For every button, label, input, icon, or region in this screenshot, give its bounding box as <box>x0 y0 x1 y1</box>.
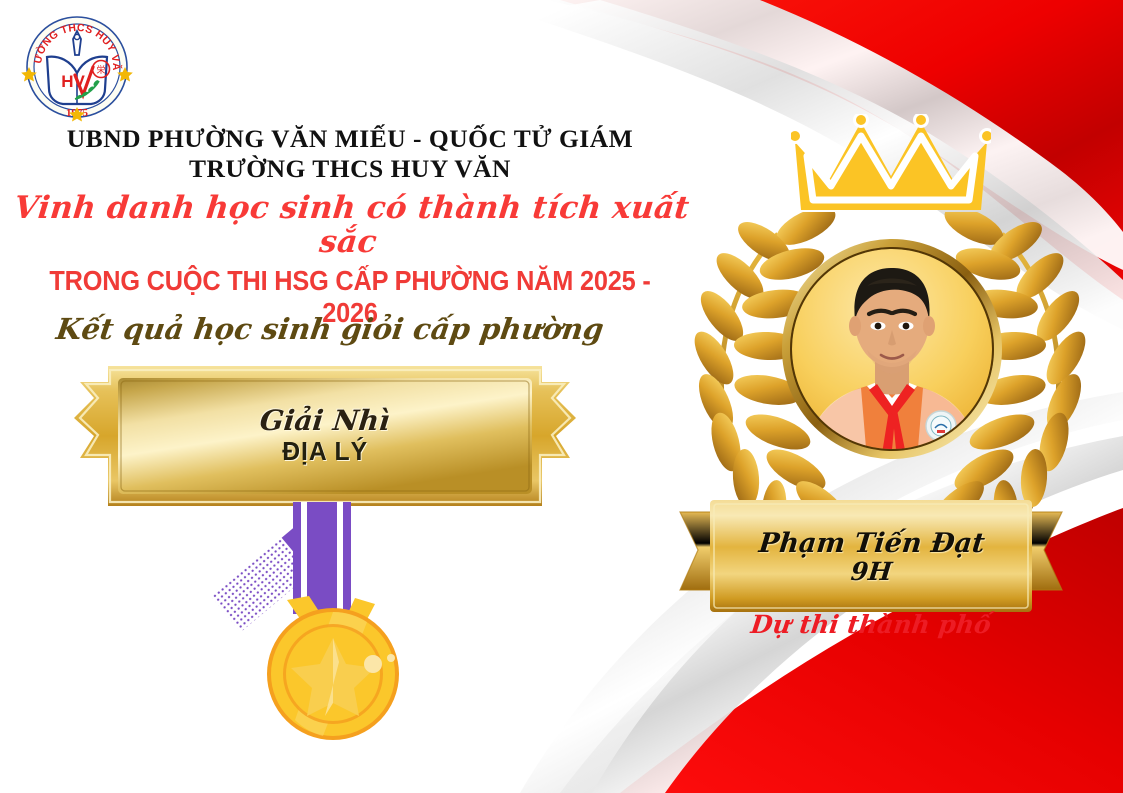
gold-medal-icon <box>205 492 455 750</box>
svg-text:栄: 栄 <box>96 64 105 76</box>
name-ribbon <box>676 494 1066 624</box>
award-poster: TRƯỜNG THCS HUY VĂN HV 栄 1975 <box>0 0 1123 793</box>
prize-rank-label: Giải Nhì <box>259 407 392 435</box>
student-portrait <box>781 238 1003 460</box>
next-round-note: Dự thi thành phố <box>674 610 1068 639</box>
school-logo: TRƯỜNG THCS HUY VĂN HV 栄 1975 <box>13 11 141 123</box>
prize-subject-label: ĐỊA LÝ <box>282 437 368 466</box>
organization-line-2: TRƯỜNG THCS HUY VĂN <box>0 154 700 184</box>
result-section-heading: Kết quả học sinh giỏi cấp phường <box>0 312 662 346</box>
header-text-block: UBND PHƯỜNG VĂN MIẾU - QUỐC TỬ GIÁM TRƯỜ… <box>0 124 700 329</box>
honour-script-line: Vinh danh học sinh có thành tích xuất sắ… <box>0 191 704 259</box>
award-plaque: Giải Nhì ĐỊA LÝ <box>70 362 580 510</box>
crown-icon <box>791 114 991 226</box>
organization-line-1: UBND PHƯỜNG VĂN MIẾU - QUỐC TỬ GIÁM <box>0 124 700 154</box>
